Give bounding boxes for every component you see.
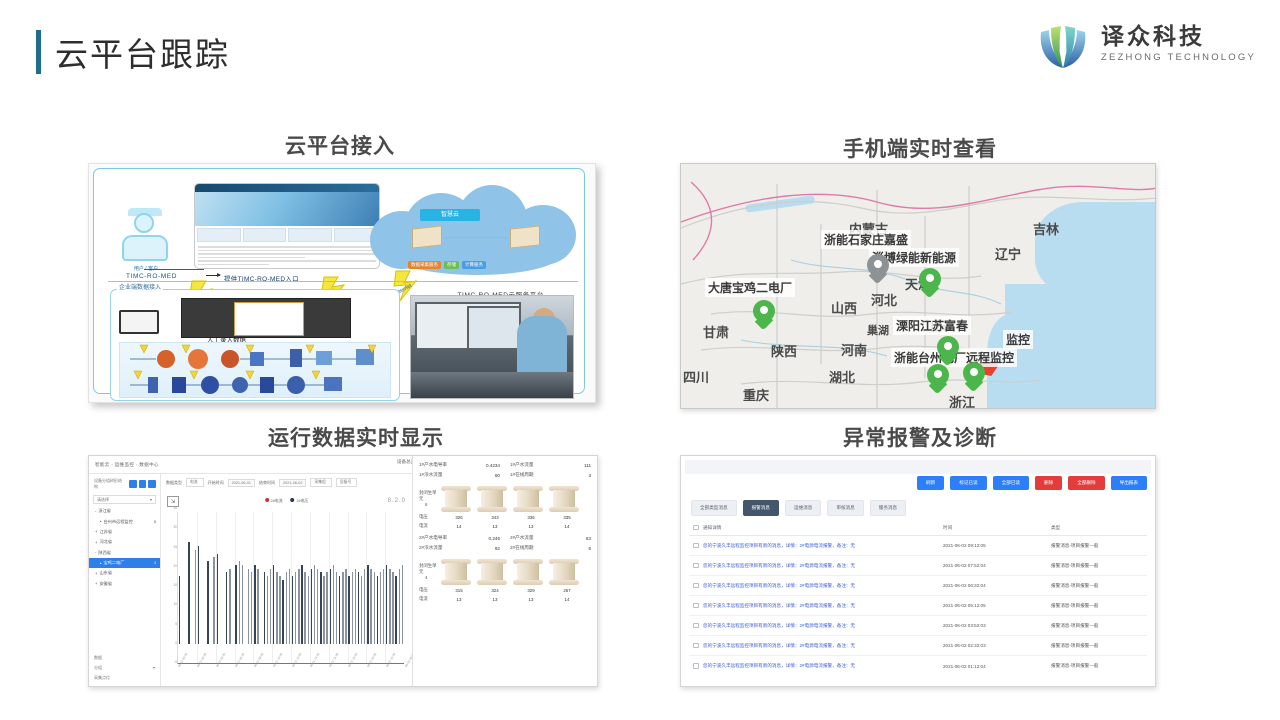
chart-data-spike — [333, 565, 334, 644]
row-time-0: 2021-06-02 09:12:05 — [943, 543, 1051, 548]
spool-icon-0-1 — [477, 486, 507, 512]
chart-filter-bar[interactable]: 数据类型 电流 开始时间 2021-06-01 结束时间 2021-06-02 … — [161, 474, 412, 491]
row-checkbox-4[interactable] — [693, 623, 699, 629]
chart-data-spike — [217, 554, 218, 645]
site-label-shijiazhuang[interactable]: 浙能石家庄嘉盛 — [821, 230, 911, 249]
table-row[interactable]: 您的宁波久丰远程监控项目有新的消息，详情：2#电源电流报警，备注：无 2021-… — [689, 576, 1147, 596]
chart-data-spike — [295, 572, 296, 644]
mobile-map-panel: 内蒙古 吉林 辽宁 河北 山西 天津 山东 甘肃 陕西 河南 巢湖 湖北 重庆 … — [680, 163, 1156, 409]
user-icon: 用户 / 客户 — [118, 213, 172, 269]
chevron-down-icon: ▾ — [150, 497, 152, 502]
metric-unit-value-1: 4 — [425, 575, 427, 580]
dashboard-brand: 智能云 · 运维监控 · 数据中心 — [95, 462, 159, 468]
row-time-5: 2021-06-02 02:32:03 — [943, 643, 1051, 648]
row-time-3: 2021-06-02 05:12:05 — [943, 603, 1051, 608]
tree-footer-0[interactable]: 数据 — [89, 653, 160, 663]
metric-cell-1-1-3: 14 — [549, 597, 585, 602]
row-checkbox-2[interactable] — [693, 583, 699, 589]
tree-node-2[interactable]: +江苏省 — [89, 527, 160, 537]
row-detail-0[interactable]: 您的宁波久丰远程监控项目有新的消息，详情：2#电源电流报警，备注：无 — [703, 543, 943, 549]
chart-data-spike — [264, 572, 265, 644]
metric-row-1-1: 电流 13 13 13 14 — [419, 596, 591, 602]
chart-data-spike — [286, 572, 287, 644]
tree-expand-icon-2[interactable]: + — [95, 529, 97, 534]
metric-cell-1-1-1: 13 — [477, 597, 513, 602]
metric-key-0-2: 1#浓水流量 — [419, 472, 443, 478]
table-row[interactable]: 您的宁波久丰远程监控项目有新的消息，详情：2#电源电流报警，备注：无 2021-… — [689, 656, 1147, 676]
chart-data-spike — [358, 572, 359, 644]
logo-name-en: ZEZHONG TECHNOLOGY — [1101, 52, 1256, 63]
chart-data-spike — [248, 569, 249, 645]
chart-data-spike — [304, 572, 305, 644]
dashboard-topbar: 智能云 · 运维监控 · 数据中心 — [89, 456, 414, 474]
row-checkbox-6[interactable] — [693, 663, 699, 669]
chart-data-spike — [326, 572, 327, 644]
row-type-1: 报警消息-项目报警—般 — [1051, 563, 1147, 569]
site-label-liyang[interactable]: 溧阳江苏富春 — [893, 316, 971, 335]
legend-label-1: 2#电压 — [297, 499, 309, 503]
province-label-hubei: 湖北 — [829, 367, 855, 386]
filter-group-select[interactable]: 采集组 — [310, 478, 331, 487]
delete-all-button[interactable]: 全部删除 — [1068, 476, 1104, 490]
metric-key-1-2: 2#浓水流量 — [419, 545, 443, 551]
chart-data-spike — [361, 576, 362, 644]
tree-select-value: 请选择 — [97, 497, 109, 503]
metric-cell-0-0-0: 326 — [441, 515, 477, 520]
mark-read-button[interactable]: 标记已读 — [950, 476, 986, 490]
metric-cell-0-0-1: 343 — [477, 515, 513, 520]
province-label-henan: 河南 — [841, 340, 867, 359]
tree-node-0[interactable]: -浙江省 — [89, 506, 160, 516]
chart-data-spike — [242, 565, 243, 644]
map-pin-zibo[interactable] — [919, 268, 941, 298]
metrics-panel: 1#产水电导率0.4234 1#产水流量111 1#浓水流量60 1#在线周期3… — [412, 456, 597, 686]
metric-key-1-0: 2#产水电导率 — [419, 535, 447, 541]
logo-name-cn: 译众科技 — [1101, 25, 1256, 50]
tree-expand-icon-7[interactable]: + — [95, 581, 97, 586]
select-all-checkbox[interactable] — [693, 525, 699, 531]
metric-val-1-2: 92 — [495, 546, 500, 551]
chart-data-spike — [314, 565, 315, 644]
tree-node-label-1: 台州市远程监控 — [103, 519, 132, 525]
section-title-cloud-access: 云平台接入 — [180, 130, 500, 160]
chart-data-spike — [336, 572, 337, 644]
chart-data-spike — [352, 572, 353, 644]
metric-row-label-0-0: 电压 — [419, 514, 441, 520]
chart-data-spike — [298, 569, 299, 645]
row-checkbox-1[interactable] — [693, 563, 699, 569]
legend-item-0: 2#电流 — [265, 498, 283, 504]
filter-end-input[interactable]: 2021-06-02 — [279, 479, 306, 487]
slide-root: 云平台跟踪 — [0, 0, 1280, 720]
chart-data-spike — [251, 572, 252, 644]
chart-data-spike — [229, 569, 230, 645]
metric-cell-0-1-0: 14 — [441, 524, 477, 529]
metric-val-0-0: 0.4234 — [486, 463, 500, 468]
column-header-time: 时间 — [943, 525, 1051, 531]
page-title-text: 云平台跟踪 — [55, 28, 230, 76]
metric-cell-1-0-2: 329 — [513, 588, 549, 593]
spool-icon-1-3 — [549, 559, 579, 585]
chart-data-spike — [301, 565, 302, 644]
chart-data-spike — [402, 565, 403, 644]
table-row[interactable]: 您的宁波久丰远程监控项目有新的消息，详情：2#电源电流报警，备注：无 2021-… — [689, 536, 1147, 556]
row-type-5: 报警消息-项目报警—般 — [1051, 643, 1147, 649]
row-type-4: 报警消息-项目报警—般 — [1051, 623, 1147, 629]
tree-footer-1[interactable]: 分组 — [94, 665, 102, 671]
chart-x-axis: 06-01 00:0006-01 02:0006-01 04:0006-01 0… — [177, 666, 404, 682]
mark-all-read-button[interactable]: 全部已读 — [993, 476, 1029, 490]
server-link-line — [444, 237, 508, 238]
lotus-logo-icon — [1035, 16, 1091, 72]
tab-alarm-messages[interactable]: 报警消息 — [743, 500, 779, 516]
row-type-2: 报警消息-项目报警—般 — [1051, 583, 1147, 589]
tab-service-messages[interactable]: 服务消息 — [870, 500, 906, 516]
chart-data-spike — [342, 572, 343, 644]
chart-data-spike — [282, 580, 283, 644]
metric-cell-0-1-2: 13 — [513, 524, 549, 529]
realtime-dashboard-panel: 智能云 · 运维监控 · 数据中心 设备总览 实时监测 历史数据 报警记录 运维… — [88, 455, 598, 687]
tree-node-count-1: 8 — [154, 520, 156, 524]
province-label-liaoning: 辽宁 — [995, 244, 1021, 263]
tree-header-label: 设备分组树形结构 — [94, 478, 125, 490]
tree-node-label-0: 浙江省 — [98, 508, 111, 514]
alarm-action-buttons[interactable]: 刷新 标记已读 全部已读 删除 全部删除 导出报表 — [917, 476, 1147, 490]
map-pin-baoji[interactable] — [753, 300, 775, 330]
chart-data-spike — [292, 576, 293, 644]
enterprise-data-panel: 企业端数据接入 人工录入数据 — [110, 289, 400, 401]
chart-data-spike — [370, 569, 371, 645]
chart-data-spike — [364, 569, 365, 645]
legend-label-0: 2#电流 — [271, 499, 283, 503]
chart-data-spike — [383, 569, 384, 645]
spool-icon-0-2 — [513, 486, 543, 512]
chart-data-spike — [323, 576, 324, 644]
metric-val-0-2: 60 — [495, 473, 500, 478]
metric-spools-1 — [419, 559, 591, 585]
chart-data-spike — [213, 557, 214, 644]
tree-expand-icon-0[interactable]: - — [95, 509, 96, 514]
chart-data-spike — [386, 565, 387, 644]
chart-corner-value: 8.2.0 — [388, 498, 406, 504]
chart-data-spike — [267, 576, 268, 644]
table-row[interactable]: 您的宁波久丰远程监控项目有新的消息，详情：2#电源电流报警，备注：无 2021-… — [689, 596, 1147, 616]
province-label-jilin: 吉林 — [1033, 219, 1059, 238]
chart-data-spike — [317, 569, 318, 645]
metric-val-1-1: 63 — [586, 536, 591, 541]
cloud-badge: 智慧云 — [420, 209, 480, 221]
spool-icon-1-2 — [513, 559, 543, 585]
chart-data-spike — [374, 572, 375, 644]
chart-data-spike — [330, 569, 331, 645]
filter-type-select[interactable]: 电流 — [186, 478, 204, 487]
chart-data-spike — [254, 565, 255, 644]
device-tree-sidebar: 设备分组树形结构 请选择 ▾ -浙江省 •台州市远程监控8 +江苏省 +河北省 … — [89, 474, 161, 686]
metrics-group-1: 2#产水电导率0.246 2#产水流量63 2#浓水流量92 2#在线周期6 封… — [419, 535, 591, 602]
tree-footer-chevron-icon: ▾ — [153, 665, 155, 671]
row-time-6: 2021-06-02 01:12:04 — [943, 664, 1051, 669]
pc-icon — [119, 310, 167, 340]
chart-data-spike — [198, 546, 199, 644]
refresh-button[interactable]: 刷新 — [917, 476, 944, 490]
chart-data-spike — [195, 550, 196, 644]
row-type-3: 报警消息-项目报警—般 — [1051, 603, 1147, 609]
metric-cell-1-0-1: 324 — [477, 588, 513, 593]
tree-node-label-5: 宝鸡二电厂 — [103, 560, 124, 566]
chart-data-spike — [320, 572, 321, 644]
legend-item-1: 2#电压 — [291, 498, 309, 504]
chart-data-spike — [389, 569, 390, 645]
tree-expand-icon-1[interactable]: • — [100, 519, 101, 524]
section-title-mobile-view: 手机端实时查看 — [760, 133, 1080, 163]
metric-cell-0-0-3: 335 — [549, 515, 585, 520]
section-title-realtime-data: 运行数据实时显示 — [196, 422, 516, 452]
metric-val-1-0: 0.246 — [489, 536, 501, 541]
chart-data-spike — [276, 572, 277, 644]
table-row[interactable]: 您的宁波久丰远程监控项目有新的消息，详情：2#电源电流报警，备注：无 2021-… — [689, 556, 1147, 576]
metric-unit-value-0: 6 — [425, 502, 427, 507]
tree-node-label-7: 安徽省 — [99, 581, 112, 587]
chart-data-spike — [188, 542, 189, 644]
chart-data-spike — [273, 565, 274, 644]
spool-icon-0-3 — [549, 486, 579, 512]
tree-select[interactable]: 请选择 ▾ — [93, 495, 156, 504]
tree-node-label-2: 江苏省 — [99, 529, 112, 535]
metric-key-0-0: 1#产水电导率 — [419, 462, 447, 468]
province-label-gansu: 甘肃 — [703, 322, 729, 341]
row-detail-3[interactable]: 您的宁波久丰远程监控项目有新的消息，详情：2#电源电流报警，备注：无 — [703, 603, 943, 609]
tree-search-icon[interactable] — [129, 480, 137, 488]
company-logo: 译众科技 ZEZHONG TECHNOLOGY — [1035, 16, 1256, 72]
site-label-baoji[interactable]: 大唐宝鸡二电厂 — [705, 278, 795, 297]
alarm-table: 通知详情 时间 类型 您的宁波久丰远程监控项目有新的消息，详情：2#电源电流报警… — [689, 520, 1147, 680]
tab-ops-messages[interactable]: 运维消息 — [785, 500, 821, 516]
architecture-inner-frame: 用户 / 客户 门户网站 提供TIMC-RO-MED入口 智慧云 — [93, 168, 585, 394]
table-row[interactable]: 您的宁波久丰远程监控项目有新的消息，详情：2#电源电流报警，备注：无 2021-… — [689, 636, 1147, 656]
table-row[interactable]: 您的宁波久丰远程监控项目有新的消息，详情：2#电源电流报警，备注：无 2021-… — [689, 616, 1147, 636]
province-label-chaohu: 巢湖 — [867, 322, 889, 338]
row-detail-6[interactable]: 您的宁波久丰远程监控项目有新的消息，详情：2#电源电流报警，备注：无 — [703, 663, 943, 669]
filter-end-label: 结束时间 — [259, 480, 275, 486]
tree-add-icon[interactable] — [139, 480, 147, 488]
delete-button[interactable]: 删除 — [1035, 476, 1062, 490]
metric-cell-1-1-2: 13 — [513, 597, 549, 602]
process-flow-diagram — [119, 342, 391, 398]
title-accent-bar — [36, 30, 41, 74]
chart-data-spike — [226, 572, 227, 644]
alarm-tabs[interactable]: 全部类型消息 报警消息 运维消息 审核消息 服务消息 — [691, 500, 906, 516]
tab-audit-messages[interactable]: 审核消息 — [827, 500, 863, 516]
map-pin-taizhou[interactable] — [963, 362, 985, 392]
row-checkbox-5[interactable] — [693, 643, 699, 649]
control-room-photo: RO现场与远程调度 — [410, 295, 574, 399]
chart-data-spike — [345, 569, 346, 645]
alarm-list-panel: 刷新 标记已读 全部已读 删除 全部删除 导出报表 全部类型消息 报警消息 运维… — [680, 455, 1156, 687]
tree-node-3[interactable]: +河北省 — [89, 537, 160, 547]
metric-cell-0-1-1: 13 — [477, 524, 513, 529]
system-name-label: TIMC-RO-MED — [126, 273, 177, 280]
chart-data-spike — [235, 565, 236, 644]
metric-val-0-1: 111 — [584, 463, 591, 468]
metric-row-1-0: 电压 315 324 329 267 — [419, 587, 591, 593]
filter-start-label: 开始时间 — [208, 480, 224, 486]
tree-node-7[interactable]: +安徽省 — [89, 579, 160, 589]
filter-start-input[interactable]: 2021-06-01 — [228, 479, 255, 487]
chart-data-spike — [377, 576, 378, 644]
metric-val-1-3: 6 — [588, 546, 591, 551]
chart-y-tick: 35 — [173, 506, 177, 510]
chart-data-spike — [355, 569, 356, 645]
cloud-chip-0: 数据采集服务 — [408, 261, 441, 269]
china-map[interactable]: 内蒙古 吉林 辽宁 河北 山西 天津 山东 甘肃 陕西 河南 巢湖 湖北 重庆 … — [681, 164, 1155, 408]
tree-footer: 数据 分组 ▾ 采集点位 — [89, 653, 160, 683]
entry-arrow-icon — [206, 275, 220, 276]
user-connector-line — [144, 269, 204, 270]
metric-cell-0-1-3: 14 — [549, 524, 585, 529]
row-checkbox-0[interactable] — [693, 543, 699, 549]
metric-row-label-0-1: 电流 — [419, 523, 441, 529]
row-type-0: 报警消息-项目报警—般 — [1051, 543, 1147, 549]
chart-legend: 2#电流 2#电压 — [265, 498, 309, 504]
enterprise-data-title: 企业端数据接入 — [117, 282, 163, 291]
chart-data-spike — [395, 576, 396, 644]
page-title: 云平台跟踪 — [36, 28, 230, 76]
province-label-shaanxi: 陕西 — [771, 341, 797, 360]
chart-y-axis: -505101520253035 — [165, 510, 177, 664]
slide-header: 云平台跟踪 — [0, 0, 1280, 96]
map-pin-shijiazhuang[interactable] — [867, 254, 889, 284]
row-detail-1[interactable]: 您的宁波久丰远程监控项目有新的消息，详情：2#电源电流报警，备注：无 — [703, 563, 943, 569]
site-label-jiankong[interactable]: 监控 — [1003, 330, 1033, 349]
metric-key-1-1: 2#产水流量 — [510, 535, 534, 541]
logo-wordmark: 译众科技 ZEZHONG TECHNOLOGY — [1101, 25, 1256, 63]
section-title-alarm-diagnosis: 异常报警及诊断 — [760, 422, 1080, 452]
chart-data-spike — [399, 569, 400, 645]
tree-node-list: -浙江省 •台州市远程监控8 +江苏省 +河北省 -陕西省 •宝鸡二电厂3 +山… — [89, 506, 160, 589]
portal-website-screenshot: 门户网站 — [194, 183, 380, 269]
cloud-service-chips: 数据采集服务 存储 计算服务 — [408, 261, 486, 269]
spool-icon-1-1 — [477, 559, 507, 585]
chart-data-spike — [289, 569, 290, 645]
architecture-diagram-panel: 用户 / 客户 门户网站 提供TIMC-RO-MED入口 智慧云 — [88, 163, 596, 403]
row-type-6: 报警消息-项目报警—般 — [1051, 663, 1147, 669]
chart-data-spike — [339, 576, 340, 644]
row-detail-5[interactable]: 您的宁波久丰远程监控项目有新的消息，详情：2#电源电流报警，备注：无 — [703, 643, 943, 649]
tree-expand-icon-5[interactable]: • — [100, 561, 101, 566]
tree-expand-icon-3[interactable]: + — [95, 540, 97, 545]
tree-refresh-icon[interactable] — [148, 480, 156, 488]
row-detail-2[interactable]: 您的宁波久丰远程监控项目有新的消息，详情：2#电源电流报警，备注：无 — [703, 583, 943, 589]
metric-unit-label-0: 封闭生单元 — [419, 490, 439, 502]
spool-icon-1-0 — [441, 559, 471, 585]
metric-cell-1-0-0: 315 — [441, 588, 477, 593]
row-time-2: 2021-06-02 06:32:04 — [943, 583, 1051, 588]
metric-val-0-3: 3 — [588, 473, 591, 478]
map-pin-jiankong[interactable] — [927, 364, 949, 394]
metric-cell-1-1-0: 13 — [441, 597, 477, 602]
cloud-chip-2: 计算服务 — [462, 261, 486, 269]
province-label-sichuan: 四川 — [683, 367, 709, 386]
metric-cell-1-0-3: 267 — [549, 588, 585, 593]
chart-data-spike — [367, 565, 368, 644]
metric-row-label-1-0: 电压 — [419, 587, 441, 593]
tree-toolbar[interactable]: 设备分组树形结构 — [89, 474, 160, 493]
tree-node-6[interactable]: +山东省 — [89, 568, 160, 578]
chart-data-spike — [207, 561, 208, 644]
chart-data-spike — [380, 572, 381, 644]
photo-caption: RO现场与远程调度 — [425, 295, 476, 296]
chart-data-spike — [257, 569, 258, 645]
metric-unit-label-1: 封闭生单元 — [419, 563, 439, 575]
tab-all-messages[interactable]: 全部类型消息 — [691, 500, 737, 516]
column-header-type: 类型 — [1051, 525, 1147, 531]
province-label-chongqing: 重庆 — [743, 385, 769, 404]
tree-footer-2[interactable]: 采集点位 — [89, 673, 160, 683]
chart-data-spike — [348, 576, 349, 644]
tree-node-label-4: 陕西省 — [98, 550, 111, 556]
chart-plot-area — [177, 512, 404, 664]
metric-key-0-3: 1#在线周期 — [510, 472, 534, 478]
province-label-shanxi: 山西 — [831, 298, 857, 317]
cloud-chip-1: 存储 — [444, 261, 459, 269]
alarm-table-header: 通知详情 时间 类型 — [689, 520, 1147, 536]
metric-spools-0 — [419, 486, 591, 512]
export-report-button[interactable]: 导出报表 — [1111, 476, 1147, 490]
tree-node-4[interactable]: -陕西省 — [89, 548, 160, 558]
row-checkbox-3[interactable] — [693, 603, 699, 609]
tree-node-5[interactable]: •宝鸡二电厂3 — [89, 558, 160, 568]
alarm-topbar — [685, 460, 1151, 474]
filter-device-select[interactable]: 设备号 — [336, 478, 357, 487]
tree-node-count-5: 3 — [154, 561, 156, 565]
tree-node-label-6: 山东省 — [99, 570, 112, 576]
row-time-4: 2021-06-02 03:52:03 — [943, 623, 1051, 628]
chart-data-spike — [392, 572, 393, 644]
bus-line — [108, 281, 578, 282]
metric-row-0-1: 电流 14 13 13 14 — [419, 523, 591, 529]
row-detail-4[interactable]: 您的宁波久丰远程监控项目有新的消息，详情：2#电源电流报警，备注：无 — [703, 623, 943, 629]
chart-data-spike — [239, 561, 240, 644]
province-label-zhejiang: 浙江 — [949, 392, 975, 408]
spool-icon-0-0 — [441, 486, 471, 512]
tree-expand-icon-4[interactable]: - — [95, 550, 96, 555]
chart-area: 数据类型 电流 开始时间 2021-06-01 结束时间 2021-06-02 … — [161, 474, 412, 686]
row-time-1: 2021-06-02 07:52:04 — [943, 563, 1051, 568]
hmi-monitor — [181, 298, 351, 338]
chart-data-spike — [270, 569, 271, 645]
chart-data-spike — [308, 576, 309, 644]
metric-row-label-1-1: 电流 — [419, 596, 441, 602]
chart-data-spike — [311, 569, 312, 645]
province-label-hebei: 河北 — [871, 290, 897, 309]
tree-expand-icon-6[interactable]: + — [95, 571, 97, 576]
tree-node-1[interactable]: •台州市远程监控8 — [89, 516, 160, 526]
map-pin-liyang[interactable] — [937, 336, 959, 366]
column-header-detail: 通知详情 — [703, 525, 943, 531]
tree-node-label-3: 河北省 — [99, 539, 112, 545]
chart-data-spike — [179, 576, 180, 644]
chart-data-spike — [279, 576, 280, 644]
metric-row-0-0: 电压 326 343 336 335 — [419, 514, 591, 520]
metric-key-0-1: 1#产水流量 — [510, 462, 534, 468]
metric-key-1-3: 2#在线周期 — [510, 545, 534, 551]
filter-type-label: 数据类型 — [166, 480, 182, 486]
metric-cell-0-0-2: 336 — [513, 515, 549, 520]
metrics-group-0: 1#产水电导率0.4234 1#产水流量111 1#浓水流量60 1#在线周期3… — [419, 462, 591, 529]
